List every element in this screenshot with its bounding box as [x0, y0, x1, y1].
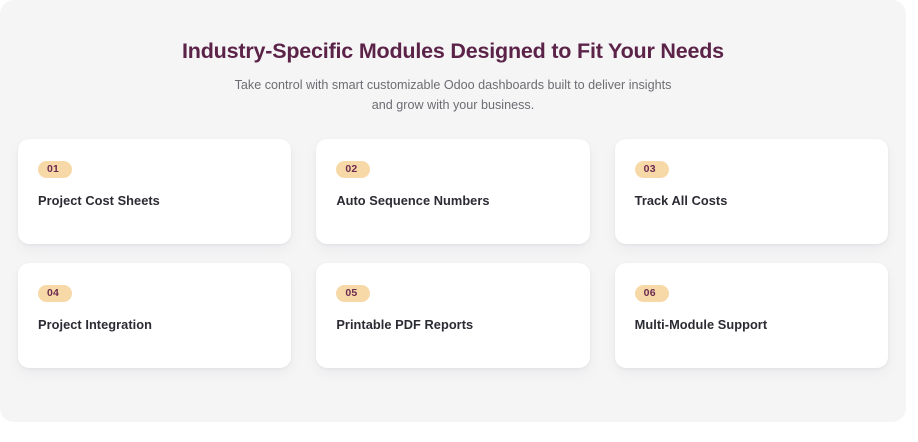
feature-card-number-badge: 05 — [336, 285, 370, 303]
feature-card-number-badge: 03 — [635, 161, 669, 179]
feature-card[interactable]: 04 Project Integration — [18, 263, 291, 368]
feature-card-title: Printable PDF Reports — [336, 317, 569, 334]
features-section: Industry-Specific Modules Designed to Fi… — [0, 0, 906, 422]
feature-card-title: Track All Costs — [635, 193, 868, 210]
feature-card-number-badge: 01 — [38, 161, 72, 179]
feature-card-title: Auto Sequence Numbers — [336, 193, 569, 210]
feature-card-number-badge: 02 — [336, 161, 370, 179]
section-header: Industry-Specific Modules Designed to Fi… — [0, 0, 906, 116]
feature-card[interactable]: 05 Printable PDF Reports — [316, 263, 589, 368]
feature-card-title: Project Cost Sheets — [38, 193, 271, 210]
page-title: Industry-Specific Modules Designed to Fi… — [0, 38, 906, 65]
feature-card[interactable]: 02 Auto Sequence Numbers — [316, 139, 589, 244]
feature-card-title: Project Integration — [38, 317, 271, 334]
feature-card-title: Multi-Module Support — [635, 317, 868, 334]
feature-card[interactable]: 06 Multi-Module Support — [615, 263, 888, 368]
feature-card-number-badge: 06 — [635, 285, 669, 303]
section-subtitle-line-1: Take control with smart customizable Odo… — [218, 75, 688, 95]
feature-card-number-badge: 04 — [38, 285, 72, 303]
feature-card[interactable]: 01 Project Cost Sheets — [18, 139, 291, 244]
feature-card[interactable]: 03 Track All Costs — [615, 139, 888, 244]
section-subtitle-line-2: and grow with your business. — [218, 95, 688, 115]
feature-cards-grid: 01 Project Cost Sheets 02 Auto Sequence … — [0, 116, 906, 368]
section-subtitle: Take control with smart customizable Odo… — [218, 75, 688, 116]
